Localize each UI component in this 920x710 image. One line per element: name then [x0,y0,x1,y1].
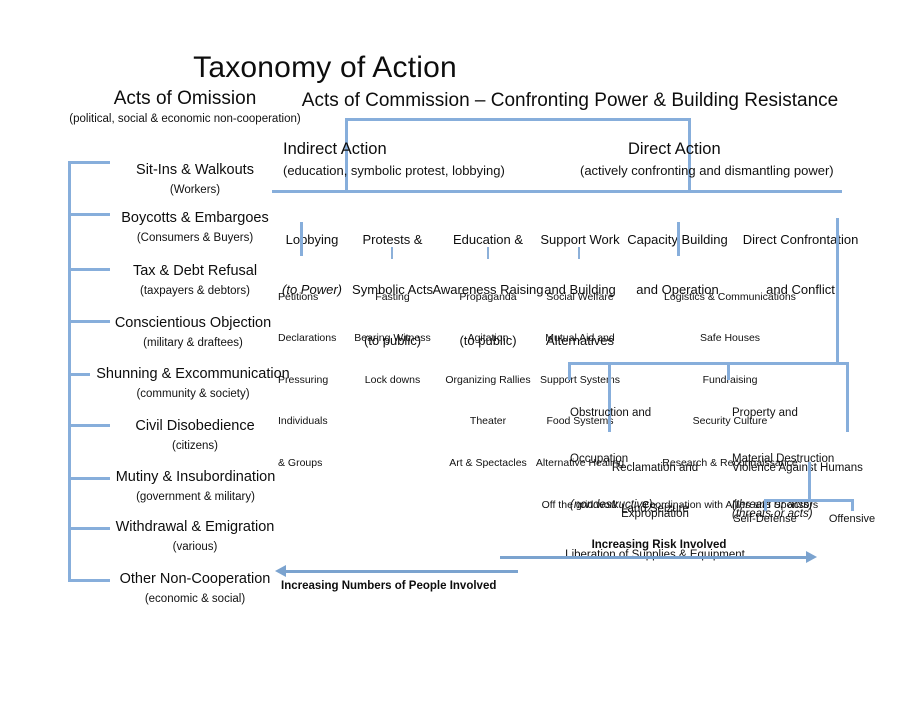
omission-item-title-8: Other Non-Cooperation [90,571,300,588]
confrontation-stem-property [727,362,730,380]
node-land-seizure: Land Seizure Liberation of Supplies & Eq… [560,471,750,594]
node-self-defense: Self-Defense [722,513,808,526]
omission-item-sub-7: (various) [90,541,300,555]
leaf-0-3: Individuals [262,415,354,429]
omission-subheading: (political, social & economic non-cooper… [68,113,302,127]
commission-bracket-top [345,118,690,121]
direct-action-heading: Direct Action [628,140,868,159]
omission-bracket-spine [68,161,71,579]
people-axis-shaft [286,570,518,573]
omission-item-title-0: Sit-Ins & Walkouts [95,162,295,179]
indirect-action-heading: Indirect Action [283,140,563,159]
node-violence-line1: Violence Against Humans [732,461,897,476]
risk-axis-arrowhead-icon [806,551,817,563]
omission-heading: Acts of Omission [60,88,310,110]
omission-item-sub-0: (Workers) [95,184,295,198]
direct-action-subheading: (actively confronting and dismantling po… [580,163,900,178]
confrontation-main-stem [836,218,839,363]
violence-fork-rail [764,499,854,502]
column-stem-1 [391,247,393,259]
node-violence: Violence Against Humans (threats or acts… [732,430,897,553]
page-title: Taxonomy of Action [100,50,550,85]
node-property-line1: Property and [732,406,882,421]
column-stem-0 [300,222,303,256]
column-stem-3 [578,247,580,259]
column-head-5-line1: Direct Confrontation [738,232,863,249]
diagram-canvas: Taxonomy of Action Acts of Omission (pol… [0,0,920,710]
column-stem-4 [677,222,680,256]
omission-item-title-7: Withdrawal & Emigration [90,519,300,536]
people-axis-label: Increasing Numbers of People Involved [281,580,581,594]
omission-item-sub-1: (Consumers & Buyers) [95,232,295,246]
column-head-5-line2: and Conflict [738,282,863,299]
omission-item-title-1: Boycotts & Embargoes [95,210,295,227]
violence-fork-left-stem [764,499,767,511]
commission-main-rail [272,190,842,193]
indirect-action-subheading: (education, symbolic protest, lobbying) [283,163,573,178]
node-offensive: Offensive [812,513,892,526]
column-head-5: Direct Confrontation and Conflict [738,198,863,333]
column-head-3-line1: Support Work [528,232,632,249]
violence-fork-stem [808,462,811,500]
people-axis-arrowhead-icon [275,565,286,577]
violence-fork-right-stem [851,499,854,511]
risk-axis-shaft [500,556,808,559]
column-stem-2 [487,247,489,259]
leaf-4-1: Safe Houses [610,332,850,346]
node-obstruction-line1: Obstruction and [570,406,700,421]
risk-axis-label: Increasing Risk Involved [500,539,818,553]
omission-item-sub-8: (economic & social) [90,593,300,607]
leaf-0-4: & Groups [262,457,354,471]
commission-heading: Acts of Commission – Confronting Power &… [290,90,850,112]
